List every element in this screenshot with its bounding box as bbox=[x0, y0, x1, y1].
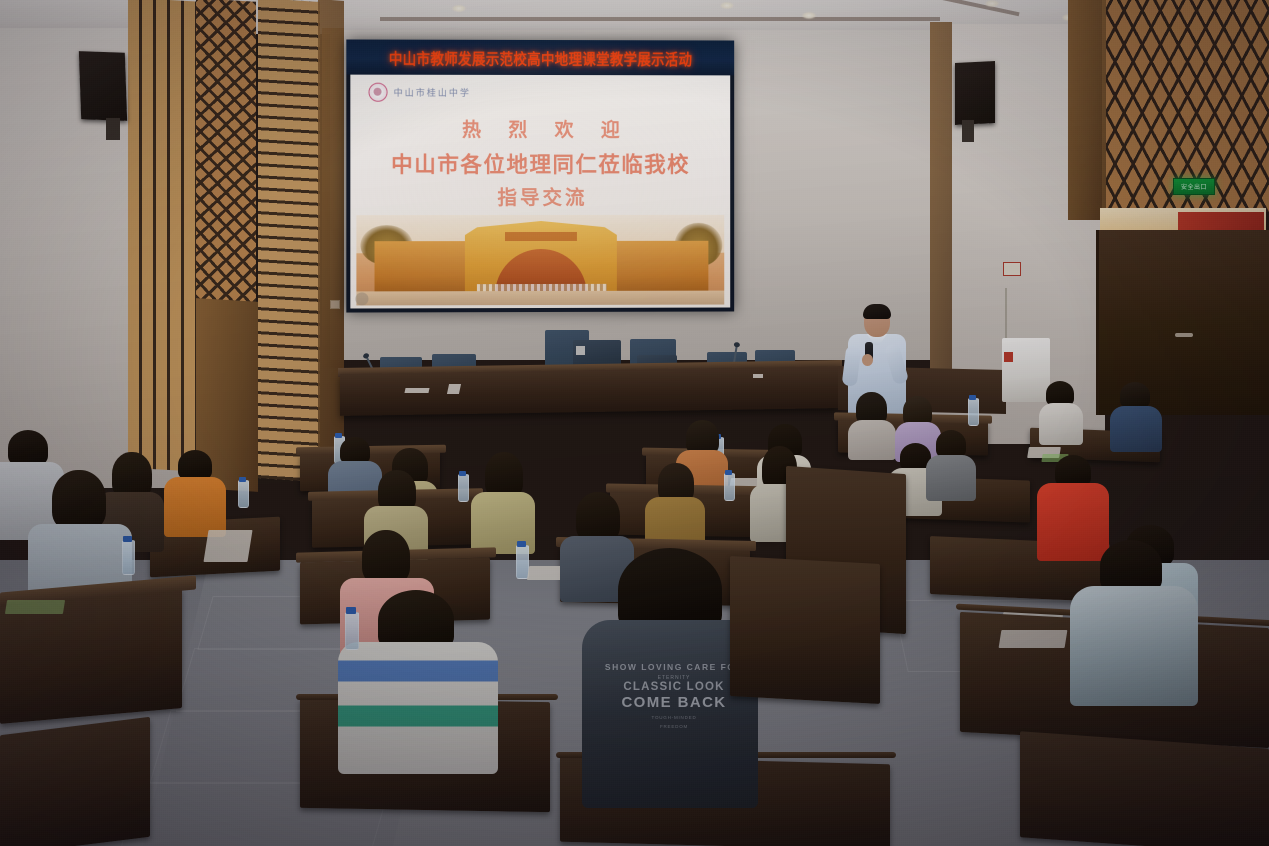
exit-sign: 安全出口 bbox=[1173, 178, 1215, 195]
person-torso bbox=[926, 455, 976, 501]
wall-speaker-right bbox=[955, 61, 995, 125]
person-hair bbox=[936, 430, 966, 458]
projection-screen: 中山市教师发展示范校高中地理课堂教学展示活动 中山市桂山中学 热 烈 欢 迎 中… bbox=[346, 39, 734, 312]
bottle-cap bbox=[517, 541, 526, 547]
monitor-screen-glare bbox=[576, 346, 585, 355]
person-hair bbox=[1100, 540, 1162, 592]
school-gate-photo bbox=[356, 215, 724, 306]
wall-placard bbox=[330, 300, 340, 309]
ceiling-downlight bbox=[452, 5, 466, 12]
bottle-cap bbox=[459, 471, 466, 476]
person-hair bbox=[52, 470, 106, 530]
gate-photo-plaque bbox=[505, 232, 577, 241]
safety-notice-placard bbox=[1003, 262, 1021, 276]
water-bottle bbox=[968, 398, 979, 426]
bottle-cap bbox=[239, 477, 246, 482]
screen-side-trim-right bbox=[930, 22, 952, 372]
water-bottle bbox=[458, 474, 469, 502]
notebook bbox=[5, 600, 65, 614]
door-handle-icon[interactable] bbox=[1175, 333, 1193, 337]
speaker-mount-left bbox=[106, 118, 120, 140]
lattice-panel-left bbox=[196, 0, 256, 332]
handout-paper bbox=[203, 530, 252, 562]
person-hair bbox=[178, 450, 212, 480]
person-hair bbox=[362, 530, 410, 584]
desk-foreground-right-near bbox=[1020, 731, 1269, 846]
speaker-mount-right bbox=[962, 120, 974, 142]
ceiling-beam bbox=[380, 17, 940, 21]
handout-paper bbox=[999, 630, 1068, 648]
water-dispenser-tap[interactable] bbox=[1004, 352, 1013, 362]
person-hair bbox=[1120, 382, 1150, 408]
bottle-cap bbox=[335, 433, 342, 438]
wall-speaker-left bbox=[79, 51, 127, 121]
screen-banner: 中山市教师发展示范校高中地理课堂教学展示活动 bbox=[346, 39, 734, 75]
school-logo-text: 中山市桂山中学 bbox=[394, 86, 471, 99]
slide-line-1: 热 烈 欢 迎 bbox=[350, 115, 730, 142]
lecture-hall-photo: 安全出口 中山市教师发展示范校高中地理课堂教学展示活动 中山市桂山中学 热 烈 … bbox=[0, 0, 1269, 846]
exit-sign-label: 安全出口 bbox=[1181, 182, 1207, 191]
bottle-cap bbox=[123, 536, 132, 542]
presenter-hand bbox=[862, 354, 873, 366]
person-torso-red-shirt bbox=[1037, 483, 1109, 561]
slide-line-2: 中山市各位地理同仁莅临我校 bbox=[350, 148, 730, 179]
water-bottle bbox=[724, 473, 735, 501]
school-crest-icon bbox=[368, 83, 387, 102]
person-torso bbox=[1039, 403, 1083, 445]
slide-line-3: 指导交流 bbox=[350, 181, 730, 210]
school-logo: 中山市桂山中学 bbox=[368, 83, 470, 102]
gate-photo-ground bbox=[356, 291, 724, 306]
water-dispenser bbox=[1002, 338, 1050, 402]
stage-paper bbox=[753, 374, 763, 378]
person-hair bbox=[378, 590, 454, 650]
ceiling-downlight bbox=[802, 12, 816, 19]
water-bottle bbox=[345, 612, 359, 650]
water-bottle bbox=[122, 540, 135, 575]
person-torso bbox=[848, 420, 896, 460]
stage-paper bbox=[447, 384, 461, 394]
screen-banner-text: 中山市教师发展示范校高中地理课堂教学展示活动 bbox=[389, 46, 692, 69]
screen-side-trim-left bbox=[322, 28, 344, 368]
wood-louver-panel-left bbox=[258, 0, 320, 482]
slide-watermark-icon bbox=[355, 292, 368, 305]
water-bottle bbox=[238, 480, 249, 508]
presenter-hair bbox=[863, 304, 891, 319]
bottle-cap bbox=[969, 395, 976, 400]
ceiling-downlight bbox=[985, 0, 999, 7]
wood-pilaster-right bbox=[1068, 0, 1102, 220]
corridor-banner bbox=[1178, 212, 1264, 232]
desk-left-nearest bbox=[0, 717, 150, 846]
person-torso bbox=[1110, 406, 1162, 452]
person-hair bbox=[576, 492, 620, 542]
person-hair bbox=[340, 437, 370, 464]
dispenser-cord bbox=[1005, 288, 1007, 340]
desk-right-column-near bbox=[730, 556, 880, 704]
bottle-cap bbox=[346, 607, 356, 614]
person-torso-orange bbox=[164, 477, 226, 537]
person-hair bbox=[8, 430, 48, 466]
stage-paper bbox=[404, 388, 429, 393]
person-torso-striped-shirt bbox=[338, 642, 498, 774]
bottle-cap bbox=[725, 470, 732, 475]
presentation-slide: 中山市桂山中学 热 烈 欢 迎 中山市各位地理同仁莅临我校 指导交流 bbox=[350, 75, 730, 309]
person-torso bbox=[1070, 586, 1198, 706]
ceiling-downlight bbox=[720, 2, 734, 9]
